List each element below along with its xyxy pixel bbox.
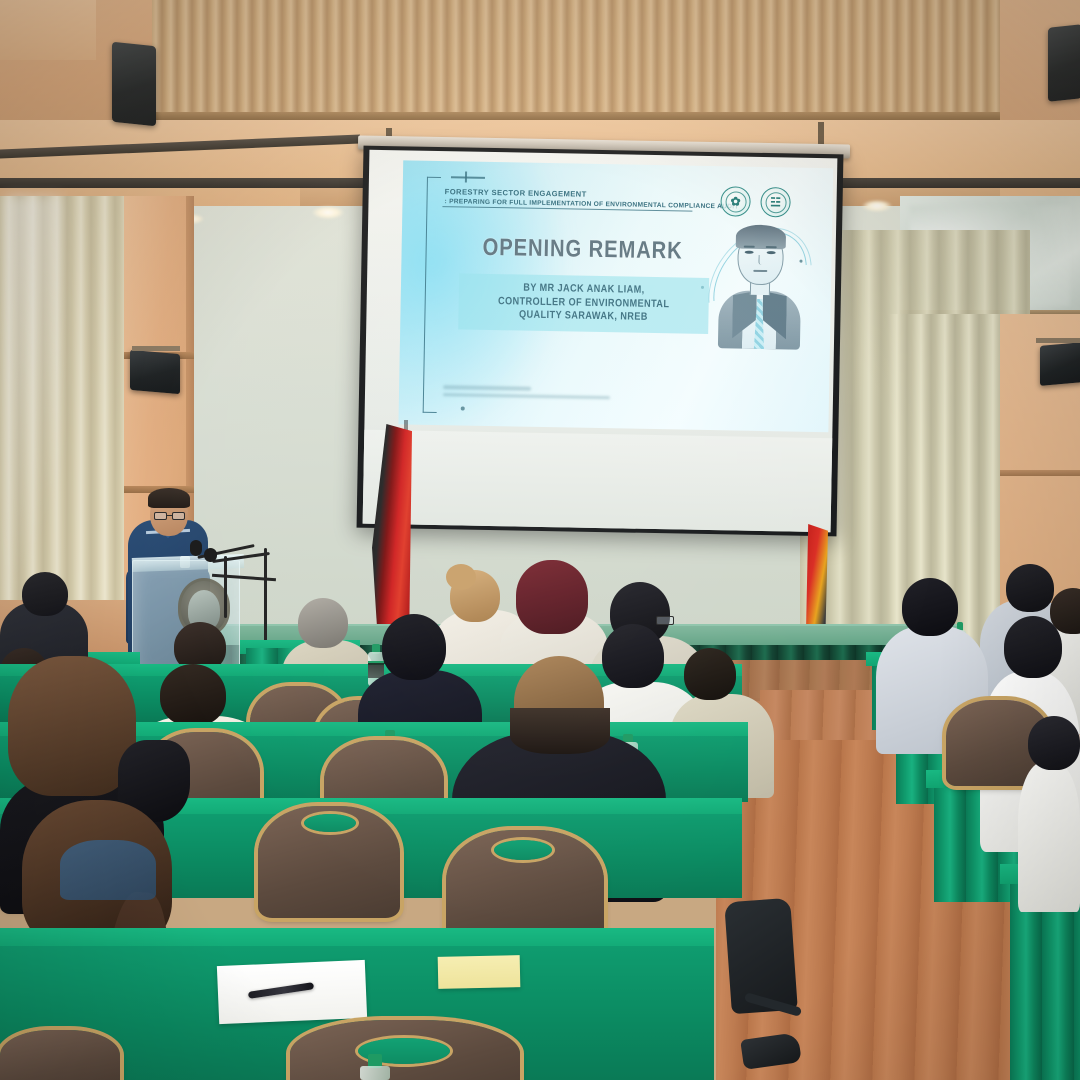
slide-footer-note (443, 385, 613, 403)
projector-screen: FORESTRY SECTOR ENGAGEMENT : PREPARING F… (357, 146, 844, 537)
upper-left-pillar-top (0, 0, 96, 60)
slide-tick-mark (465, 171, 467, 182)
footer-text-line (443, 393, 610, 400)
chair-back-handle (304, 814, 356, 832)
sarawak-flag-on-stage (806, 524, 828, 636)
portrait-nose (758, 255, 761, 265)
yellow-note-card (438, 955, 521, 989)
person-head (1028, 716, 1080, 770)
banquet-chair (0, 1030, 120, 1080)
speaker-bracket-right (1036, 338, 1080, 343)
person-head (1006, 564, 1054, 612)
person-head (1004, 616, 1062, 678)
person-head-grey-hair (298, 598, 348, 648)
wall-speaker-top-left (112, 42, 156, 127)
portrait-mouth (753, 270, 767, 272)
screen-blank-lower-area (363, 430, 833, 533)
speaker-portrait-illustration (716, 222, 804, 350)
speaker-bracket-left (132, 346, 180, 351)
hair-bun (446, 564, 476, 590)
ribbed-wood-upper-wall (0, 0, 1080, 128)
water-bottle (360, 1054, 390, 1080)
wall-speaker-top-right (1048, 24, 1080, 102)
person-head (602, 624, 664, 688)
projected-slide: FORESTRY SECTOR ENGAGEMENT : PREPARING F… (398, 160, 833, 432)
sarawak-government-seal-logo: ☳ (760, 187, 791, 218)
nreb-seal-logo: ✿ (720, 186, 751, 217)
presenter-glasses-bridge (166, 515, 173, 516)
slide-subtitle-line3: QUALITY SARAWAK, NREB (479, 308, 687, 325)
bottle-body (360, 1066, 390, 1080)
person-head (382, 614, 446, 680)
person-head (160, 664, 226, 726)
footer-text-line (443, 385, 531, 390)
slide-subtitle-block: BY MR JACK ANAK LIAM, CONTROLLER OF ENVI… (458, 273, 709, 333)
slide-title: OPENING REMARK (477, 234, 687, 266)
microphone-stem (224, 556, 227, 618)
person-hair (510, 708, 610, 754)
person-head (684, 648, 736, 700)
microphone-head (190, 540, 202, 556)
blue-garment-behind (60, 840, 156, 900)
conference-hall-photo: FORESTRY SECTOR ENGAGEMENT : PREPARING F… (0, 0, 1080, 1080)
presenter-glasses-right-lens (172, 512, 185, 520)
wall-speaker-mid-left (130, 350, 180, 394)
ceiling-downlight (862, 200, 892, 212)
seal-glyph: ☳ (761, 196, 789, 209)
person-long-hair (8, 656, 136, 796)
portrait-eyebrow-right (766, 246, 777, 248)
portrait-eyebrow-left (744, 246, 755, 248)
upper-wall-trim-band (152, 112, 1000, 120)
right-wall-trim (1000, 470, 1080, 476)
slide-dot-marker (461, 406, 465, 410)
seal-glyph: ✿ (721, 195, 749, 208)
person-hair-long-red (516, 560, 588, 634)
person-torso (1018, 762, 1080, 912)
person-head (902, 578, 958, 636)
microphone-head (204, 548, 217, 562)
wall-speaker-mid-right (1040, 342, 1080, 386)
ceiling-downlight (312, 206, 344, 219)
chair-back-handle (494, 840, 552, 860)
glasses (656, 616, 674, 625)
person-head (22, 572, 68, 616)
presenter-hair (148, 488, 190, 508)
